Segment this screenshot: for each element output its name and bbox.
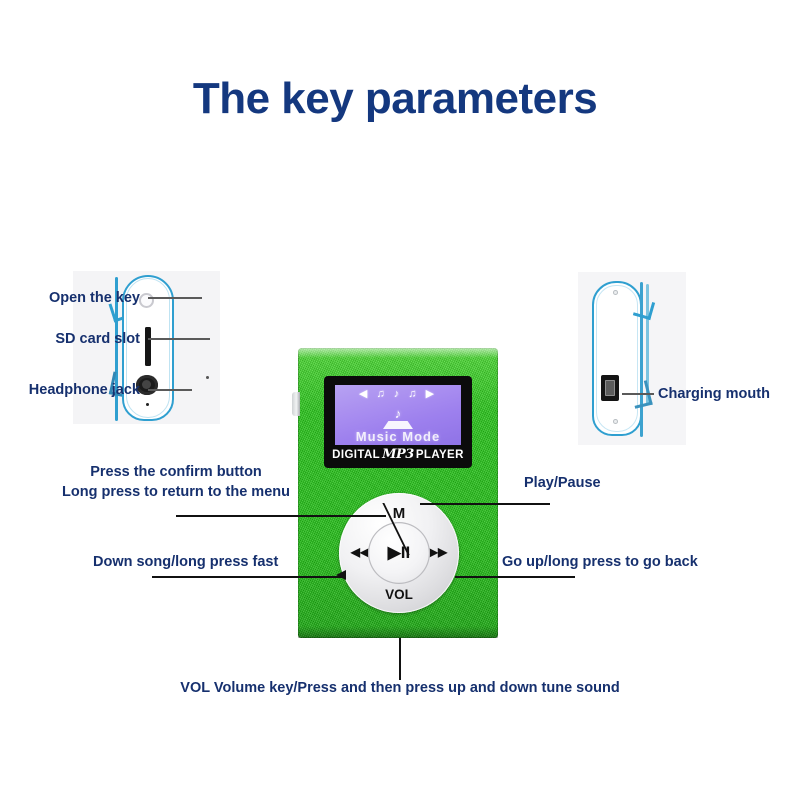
screw-top-icon (613, 290, 618, 295)
side-power-button[interactable] (292, 392, 300, 416)
microphone-dot-icon (146, 403, 149, 406)
callout-volume: VOL Volume key/Press and then press up a… (145, 679, 655, 698)
leader-sd-card-slot (148, 338, 210, 340)
leader-headphone-jack (148, 389, 192, 391)
sd-card-slot-icon (145, 327, 151, 366)
callout-open-the-key: Open the key (10, 289, 140, 308)
diagram-canvas: The key parameters Open the key SD card … (0, 0, 790, 790)
page-title: The key parameters (0, 74, 790, 124)
open-key-hole-icon (139, 293, 154, 308)
brand-prefix: DIGITAL (332, 449, 380, 461)
right-side-body-inner-outline (596, 285, 638, 432)
mp3-player-front-view: ◀ ♫ ♪ ♫ ▶ ♪ Music Mode DIGITALMP3PLAYER … (298, 348, 498, 638)
clip-spine-right-icon (634, 282, 652, 437)
leader-play-pause-h (420, 503, 550, 505)
brand-mp3: MP3 (382, 447, 414, 462)
body-bottom-shadow (298, 626, 498, 638)
volume-button[interactable]: VOL (339, 587, 459, 602)
brand-suffix: PLAYER (416, 449, 464, 461)
leader-open-the-key (148, 297, 202, 299)
panel-speck (206, 376, 209, 379)
lcd-display: ◀ ♫ ♪ ♫ ▶ ♪ Music Mode (335, 385, 461, 445)
body-top-highlight (298, 348, 498, 358)
callout-headphone-jack: Headphone jack (0, 381, 140, 400)
lcd-plinth-icon (383, 421, 413, 429)
leader-go-up (455, 576, 575, 578)
music-note-icon: ♪ (335, 407, 461, 420)
callout-sd-card-slot: SD card slot (10, 330, 140, 349)
callout-confirm-line2: Long press to return to the menu (60, 483, 292, 502)
usb-charging-port-icon (601, 375, 619, 401)
callout-go-up: Go up/long press to go back (502, 553, 698, 572)
leader-confirm-button (176, 515, 386, 517)
screen-bezel: ◀ ♫ ♪ ♫ ▶ ♪ Music Mode DIGITALMP3PLAYER (324, 376, 472, 468)
callout-play-pause: Play/Pause (524, 474, 601, 493)
right-side-view-photo (578, 272, 686, 445)
callout-confirm-line1: Press the confirm button (60, 463, 292, 482)
leader-charging-mouth (622, 393, 654, 395)
leader-volume-vertical (399, 638, 401, 680)
lcd-top-icon-row: ◀ ♫ ♪ ♫ ▶ (335, 388, 461, 401)
callout-charging-mouth: Charging mouth (658, 385, 770, 404)
screw-bottom-icon (613, 419, 618, 424)
lcd-mode-text: Music Mode (335, 429, 461, 444)
callout-down-song: Down song/long press fast (93, 553, 278, 572)
leader-down-song (152, 576, 344, 578)
brand-line: DIGITALMP3PLAYER (324, 447, 472, 462)
